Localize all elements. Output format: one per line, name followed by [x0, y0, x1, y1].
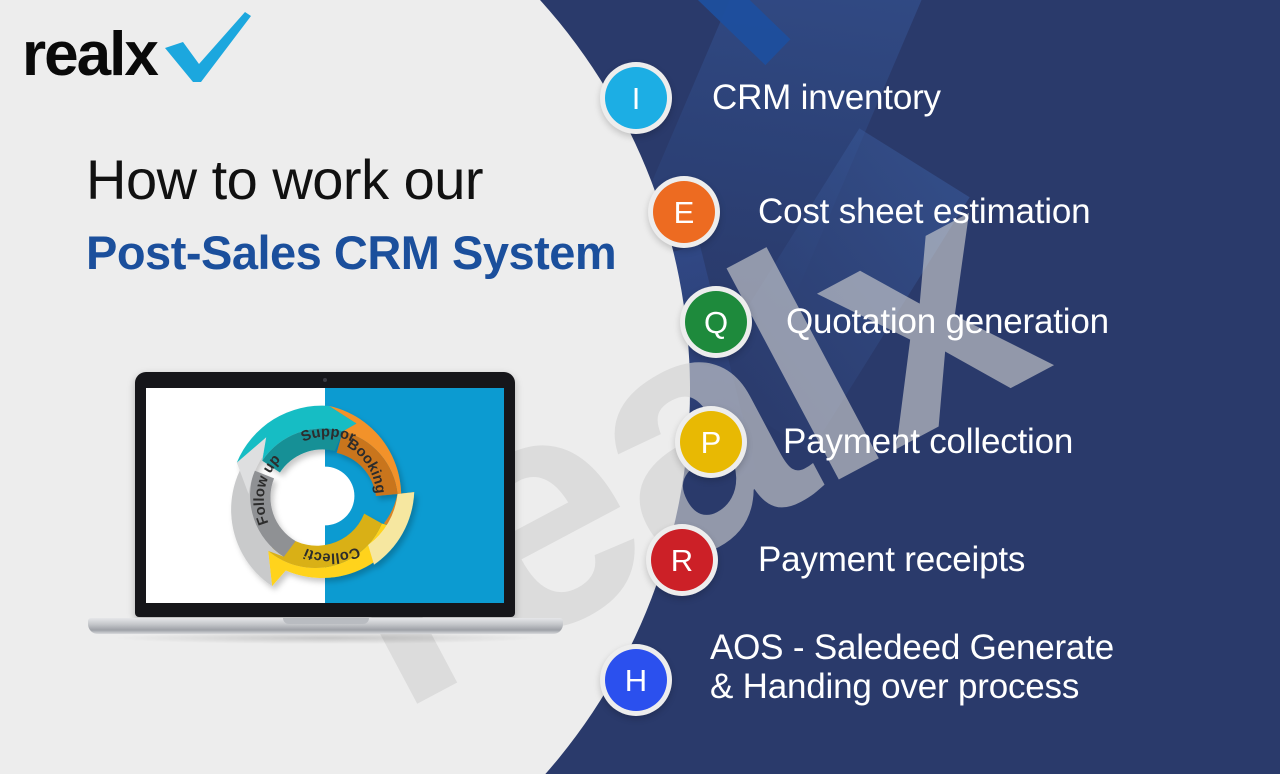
process-step-payment-collection[interactable]: P Payment collection — [675, 406, 1073, 478]
process-step-quotation-generation[interactable]: Q Quotation generation — [680, 286, 1109, 358]
step-badge-p[interactable]: P — [675, 406, 747, 478]
step-label-aos-saledeed: AOS - Saledeed Generate & Handing over p… — [710, 628, 1114, 706]
step-badge-i[interactable]: I — [600, 62, 672, 134]
step-letter-p: P — [680, 411, 742, 473]
process-step-payment-receipts[interactable]: R Payment receipts — [646, 524, 1025, 596]
step-letter-r: R — [651, 529, 713, 591]
process-step-list: I CRM inventory E Cost sheet estimation … — [0, 0, 1280, 774]
process-step-crm-inventory[interactable]: I CRM inventory — [600, 62, 941, 134]
process-step-aos-saledeed[interactable]: H AOS - Saledeed Generate & Handing over… — [600, 640, 1114, 716]
step-label-cost-sheet-estimation: Cost sheet estimation — [758, 192, 1090, 231]
step-badge-h[interactable]: H — [600, 644, 672, 716]
step-label-crm-inventory: CRM inventory — [712, 78, 941, 117]
step-letter-e: E — [653, 181, 715, 243]
step-badge-q[interactable]: Q — [680, 286, 752, 358]
step-label-payment-collection: Payment collection — [783, 422, 1073, 461]
step-letter-i: I — [605, 67, 667, 129]
step-label-payment-receipts: Payment receipts — [758, 540, 1025, 579]
process-step-cost-sheet-estimation[interactable]: E Cost sheet estimation — [648, 176, 1090, 248]
step-letter-h: H — [605, 649, 667, 711]
step-label-quotation-generation: Quotation generation — [786, 302, 1109, 341]
infographic-poster: realx realx How to work our Post-Sales C… — [0, 0, 1280, 774]
step-badge-r[interactable]: R — [646, 524, 718, 596]
step-letter-q: Q — [685, 291, 747, 353]
step-badge-e[interactable]: E — [648, 176, 720, 248]
